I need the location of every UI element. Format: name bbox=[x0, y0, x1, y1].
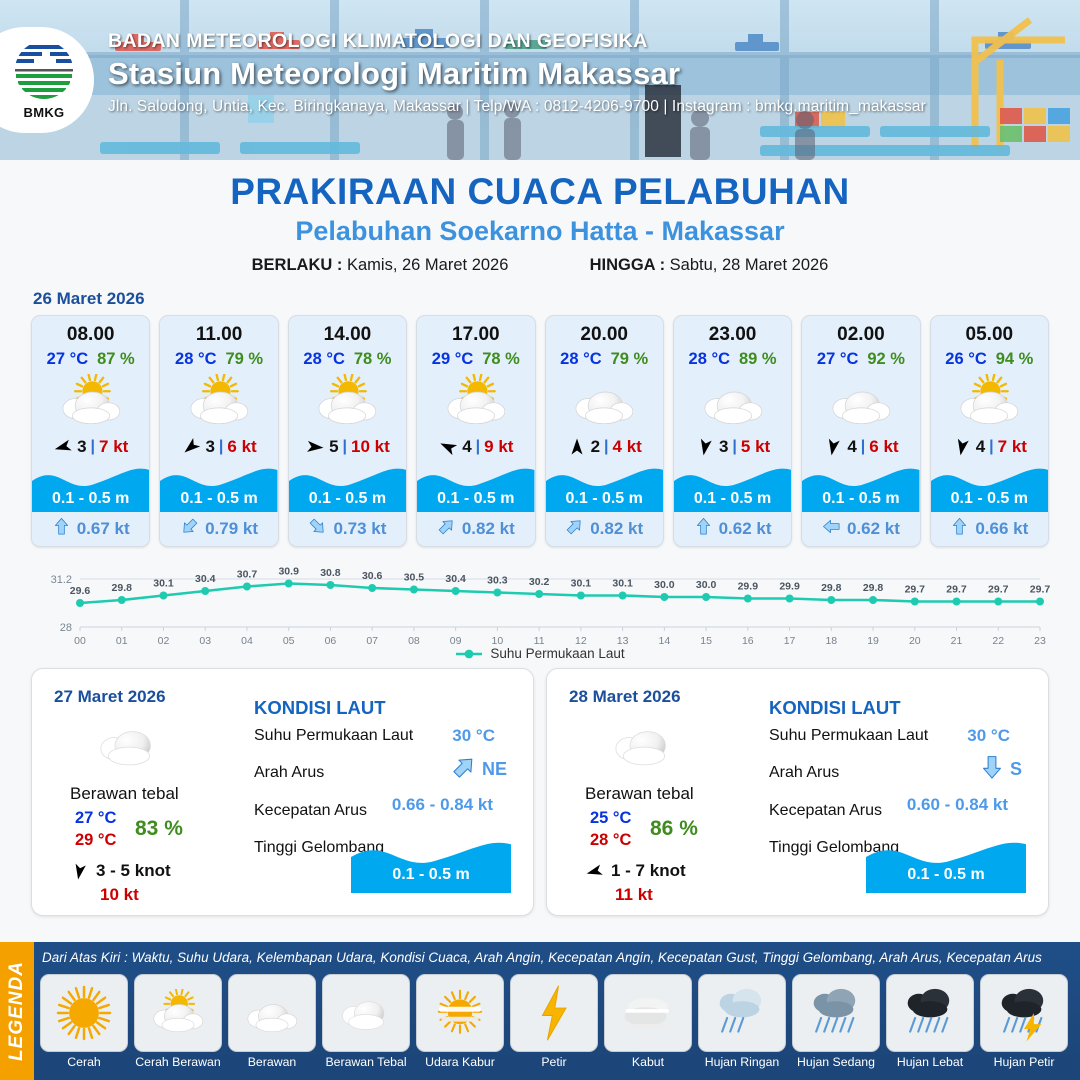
card-temperature: 28 °C bbox=[175, 350, 216, 369]
forecast-card: 02.00 27 °C 92 % 4 | 6 kt bbox=[801, 315, 920, 547]
udara-kabur-icon bbox=[416, 974, 504, 1052]
arrow-down-icon bbox=[979, 754, 1005, 785]
card-wind-separator: | bbox=[732, 438, 736, 456]
card-wave-height: 0.1 - 0.5 m bbox=[931, 490, 1048, 508]
card-wind-separator: | bbox=[604, 438, 608, 456]
arrow-west-icon bbox=[822, 517, 841, 541]
card-wave-block: 0.1 - 0.5 m bbox=[32, 462, 149, 512]
panel-current-dir-value: NE bbox=[482, 759, 507, 780]
card-wave-height: 0.1 - 0.5 m bbox=[289, 490, 406, 508]
svg-text:30.1: 30.1 bbox=[571, 578, 592, 590]
card-temperature: 28 °C bbox=[560, 350, 601, 369]
bmkg-logo-text: BMKG bbox=[11, 105, 77, 120]
svg-text:29.9: 29.9 bbox=[738, 581, 759, 593]
arrow-southwest-icon bbox=[180, 517, 199, 541]
svg-text:18: 18 bbox=[825, 635, 837, 647]
current-direction-icon bbox=[180, 517, 199, 536]
legend-item-label: Kabut bbox=[604, 1055, 692, 1069]
legend-item-label: Hujan Ringan bbox=[698, 1055, 786, 1069]
legend-item-label: Hujan Petir bbox=[980, 1055, 1068, 1069]
svg-text:20: 20 bbox=[909, 635, 921, 647]
weather-glyph bbox=[335, 991, 397, 1034]
card-current-row: 0.62 kt bbox=[802, 512, 919, 546]
card-wind-separator: | bbox=[476, 438, 480, 456]
svg-text:00: 00 bbox=[74, 635, 86, 647]
svg-text:30.1: 30.1 bbox=[153, 578, 174, 590]
card-humidity: 89 % bbox=[739, 350, 777, 369]
card-wind-scale: 4 bbox=[976, 437, 985, 457]
wind-direction-icon bbox=[181, 437, 201, 457]
arrow-northwest-icon bbox=[438, 437, 458, 457]
card-wind-row: 4 | 9 kt bbox=[417, 432, 534, 462]
svg-text:05: 05 bbox=[283, 635, 295, 647]
arrow-northeast-icon bbox=[437, 517, 456, 541]
panel-current-spd-label: Kecepatan Arus bbox=[769, 802, 882, 820]
fog-icon bbox=[617, 988, 679, 1038]
svg-text:28: 28 bbox=[60, 622, 72, 634]
panel-current-dir-label: Arah Arus bbox=[769, 764, 839, 782]
card-wind-row: 2 | 4 kt bbox=[546, 432, 663, 462]
berawan-icon bbox=[228, 974, 316, 1052]
card-weather-icon bbox=[546, 371, 663, 431]
svg-text:29.6: 29.6 bbox=[70, 585, 91, 597]
card-wind-scale: 4 bbox=[847, 437, 856, 457]
card-wind-speed: 5 kt bbox=[741, 437, 770, 457]
svg-text:21: 21 bbox=[951, 635, 963, 647]
header-org-line: BADAN METEOROLOGI KLIMATOLOGI DAN GEOFIS… bbox=[108, 30, 926, 53]
header-address-line: Jln. Salodong, Untia, Kec. Biringkanaya,… bbox=[108, 98, 926, 116]
panel-sst-label: Suhu Permukaan Laut bbox=[769, 727, 928, 745]
panel-weather-icon bbox=[607, 719, 681, 776]
legend-side-label: LEGENDA bbox=[6, 961, 28, 1061]
forecast-card: 20.00 28 °C 79 % 2 | 4 kt bbox=[545, 315, 664, 547]
panel-wave-value: 0.1 - 0.5 m bbox=[866, 866, 1026, 884]
legend-marker-icon bbox=[455, 648, 483, 660]
svg-text:30.6: 30.6 bbox=[362, 570, 383, 582]
svg-text:23: 23 bbox=[1034, 635, 1046, 647]
page-title: PRAKIRAAN CUACA PELABUHAN bbox=[0, 171, 1080, 213]
legend-item: Hujan Ringan bbox=[698, 974, 786, 1069]
card-time: 17.00 bbox=[417, 316, 534, 346]
svg-text:04: 04 bbox=[241, 635, 253, 647]
petir-icon bbox=[510, 974, 598, 1052]
berawan-tebal-icon bbox=[322, 974, 410, 1052]
header-text-block: BADAN METEOROLOGI KLIMATOLOGI DAN GEOFIS… bbox=[108, 30, 926, 116]
wave-height-graphic bbox=[866, 835, 1026, 893]
panel-current-speed-value: 0.60 - 0.84 kt bbox=[907, 795, 1008, 815]
card-wind-scale: 2 bbox=[591, 437, 600, 457]
valid-from-label: BERLAKU : bbox=[252, 256, 343, 274]
svg-text:30.0: 30.0 bbox=[654, 579, 675, 591]
card-weather-icon bbox=[674, 371, 791, 431]
card-time: 05.00 bbox=[931, 316, 1048, 346]
svg-text:29.7: 29.7 bbox=[1030, 584, 1051, 596]
svg-text:30.8: 30.8 bbox=[320, 567, 341, 579]
card-current-row: 0.67 kt bbox=[32, 512, 149, 546]
svg-text:30.0: 30.0 bbox=[696, 579, 717, 591]
card-temperature: 28 °C bbox=[689, 350, 730, 369]
svg-text:30.2: 30.2 bbox=[529, 576, 550, 588]
svg-text:03: 03 bbox=[199, 635, 211, 647]
legend-item: Hujan Sedang bbox=[792, 974, 880, 1069]
forecast-card: 08.00 27 °C 87 % 3 | 7 bbox=[31, 315, 150, 547]
arrow-up-icon bbox=[950, 517, 969, 541]
current-direction-icon bbox=[308, 517, 327, 536]
panel-humidity: 83 % bbox=[135, 817, 183, 841]
legend-item: Berawan Tebal bbox=[322, 974, 410, 1069]
card-wind-speed: 6 kt bbox=[227, 437, 256, 457]
wind-direction-icon bbox=[695, 437, 715, 457]
wind-direction-icon bbox=[567, 437, 587, 457]
panel-gust-speed: 11 kt bbox=[615, 885, 653, 905]
card-time: 08.00 bbox=[32, 316, 149, 346]
arrow-south-icon bbox=[823, 437, 843, 457]
card-weather-icon bbox=[802, 371, 919, 431]
hujan-ringan-icon bbox=[698, 974, 786, 1052]
card-humidity: 79 % bbox=[611, 350, 649, 369]
weather-glyph bbox=[241, 989, 303, 1036]
valid-until-label: HINGGA : bbox=[590, 256, 665, 274]
card-temperature: 29 °C bbox=[432, 350, 473, 369]
card-wind-scale: 5 bbox=[329, 437, 338, 457]
page-header: BMKG BADAN METEOROLOGI KLIMATOLOGI DAN G… bbox=[0, 0, 1080, 160]
svg-text:19: 19 bbox=[867, 635, 879, 647]
legend-item: Kabut bbox=[604, 974, 692, 1069]
card-wave-height: 0.1 - 0.5 m bbox=[160, 490, 277, 508]
weather-glyph bbox=[568, 374, 640, 429]
svg-text:30.9: 30.9 bbox=[278, 566, 299, 578]
arrow-west-icon bbox=[585, 862, 604, 881]
arrow-west-icon bbox=[53, 437, 73, 457]
valid-until-value: Sabtu, 28 Maret 2026 bbox=[670, 256, 829, 274]
current-direction-icon bbox=[950, 517, 969, 536]
card-weather-icon bbox=[417, 371, 534, 431]
card-wind-row: 3 | 6 kt bbox=[160, 432, 277, 462]
svg-text:29.7: 29.7 bbox=[988, 584, 1009, 596]
svg-text:08: 08 bbox=[408, 635, 420, 647]
forecast-card: 17.00 29 °C 78 % 4 | 9 bbox=[416, 315, 535, 547]
panel-wave-graphic: 0.1 - 0.5 m bbox=[351, 835, 511, 893]
wind-direction-icon bbox=[438, 437, 458, 457]
arrow-south-icon bbox=[70, 862, 89, 881]
sun-icon bbox=[53, 982, 115, 1044]
cerah-berawan-icon bbox=[134, 974, 222, 1052]
kabut-icon bbox=[604, 974, 692, 1052]
weather-glyph bbox=[92, 719, 166, 771]
card-wind-separator: | bbox=[989, 438, 993, 456]
card-wind-separator: | bbox=[343, 438, 347, 456]
panel-date: 28 Maret 2026 bbox=[569, 687, 681, 707]
legend-side-tab: LEGENDA bbox=[0, 942, 34, 1080]
legend-item: Cerah Berawan bbox=[134, 974, 222, 1069]
panel-wind-range: 3 - 5 knot bbox=[96, 861, 171, 881]
hujan-petir-icon bbox=[993, 982, 1055, 1044]
card-humidity: 94 % bbox=[996, 350, 1034, 369]
panel-temp-max: 29 °C bbox=[75, 831, 116, 850]
card-current-row: 0.82 kt bbox=[417, 512, 534, 546]
card-weather-icon bbox=[931, 371, 1048, 431]
card-wave-height: 0.1 - 0.5 m bbox=[802, 490, 919, 508]
svg-text:30.7: 30.7 bbox=[237, 569, 258, 581]
svg-text:01: 01 bbox=[116, 635, 128, 647]
wind-direction-icon bbox=[70, 862, 89, 881]
svg-text:10: 10 bbox=[492, 635, 504, 647]
card-current-row: 0.79 kt bbox=[160, 512, 277, 546]
svg-text:09: 09 bbox=[450, 635, 462, 647]
legend-item-label: Hujan Lebat bbox=[886, 1055, 974, 1069]
panel-gust-speed: 10 kt bbox=[100, 885, 139, 905]
card-current-speed: 0.82 kt bbox=[462, 519, 515, 539]
svg-text:29.9: 29.9 bbox=[779, 581, 800, 593]
hujan-petir-icon bbox=[980, 974, 1068, 1052]
panel-sea-title: KONDISI LAUT bbox=[769, 697, 901, 719]
card-wind-separator: | bbox=[219, 438, 223, 456]
card-humidity: 79 % bbox=[225, 350, 263, 369]
card-wind-row: 3 | 7 kt bbox=[32, 432, 149, 462]
card-wind-speed: 6 kt bbox=[869, 437, 898, 457]
wind-direction-icon bbox=[53, 437, 73, 457]
card-current-speed: 0.66 kt bbox=[975, 519, 1028, 539]
card-wave-block: 0.1 - 0.5 m bbox=[931, 462, 1048, 512]
card-time: 02.00 bbox=[802, 316, 919, 346]
legend-section: LEGENDA Dari Atas Kiri : Waktu, Suhu Uda… bbox=[0, 942, 1080, 1080]
panel-sea-title: KONDISI LAUT bbox=[254, 697, 386, 719]
panel-current-dir-value: S bbox=[1010, 759, 1022, 780]
panel-sst-label: Suhu Permukaan Laut bbox=[254, 727, 413, 745]
header-station-name: Stasiun Meteorologi Maritim Makassar bbox=[108, 56, 926, 92]
svg-text:30.1: 30.1 bbox=[612, 578, 633, 590]
card-humidity: 78 % bbox=[482, 350, 520, 369]
card-wind-speed: 7 kt bbox=[998, 437, 1027, 457]
arrow-southwest-icon bbox=[181, 437, 201, 457]
svg-text:31.2: 31.2 bbox=[51, 574, 72, 586]
svg-text:07: 07 bbox=[366, 635, 378, 647]
panel-condition: Berawan tebal bbox=[70, 784, 179, 804]
wind-direction-icon bbox=[305, 437, 325, 457]
current-direction-icon bbox=[451, 754, 477, 780]
card-wave-block: 0.1 - 0.5 m bbox=[289, 462, 406, 512]
card-temperature: 28 °C bbox=[303, 350, 344, 369]
card-current-row: 0.66 kt bbox=[931, 512, 1048, 546]
svg-text:30.3: 30.3 bbox=[487, 575, 508, 587]
hujan-ringan-icon bbox=[711, 982, 773, 1044]
card-weather-icon bbox=[32, 371, 149, 431]
card-wave-block: 0.1 - 0.5 m bbox=[160, 462, 277, 512]
card-humidity: 87 % bbox=[97, 350, 135, 369]
svg-text:16: 16 bbox=[742, 635, 754, 647]
validity-row: BERLAKU : Kamis, 26 Maret 2026 HINGGA : … bbox=[0, 256, 1080, 275]
wave-height-graphic bbox=[351, 835, 511, 893]
svg-text:06: 06 bbox=[325, 635, 337, 647]
hujan-lebat-icon bbox=[886, 974, 974, 1052]
panel-temp-max: 28 °C bbox=[590, 831, 631, 850]
title-section: PRAKIRAAN CUACA PELABUHAN Pelabuhan Soek… bbox=[0, 160, 1080, 275]
arrow-up-icon bbox=[52, 517, 71, 541]
svg-text:13: 13 bbox=[617, 635, 629, 647]
card-wind-row: 4 | 7 kt bbox=[931, 432, 1048, 462]
legend-item-label: Cerah bbox=[40, 1055, 128, 1069]
card-wind-row: 5 | 10 kt bbox=[289, 432, 406, 462]
current-direction-icon bbox=[52, 517, 71, 536]
panel-wind-row: 1 - 7 knot bbox=[585, 861, 686, 881]
card-wind-row: 4 | 6 kt bbox=[802, 432, 919, 462]
forecast-card: 05.00 26 °C 94 % 4 | 7 bbox=[930, 315, 1049, 547]
wind-direction-icon bbox=[585, 862, 604, 881]
card-wave-height: 0.1 - 0.5 m bbox=[546, 490, 663, 508]
sst-line-chart: 31.2280001020304050607080910111213141516… bbox=[22, 553, 1058, 649]
legend-item-label: Berawan bbox=[228, 1055, 316, 1069]
svg-text:29.7: 29.7 bbox=[946, 584, 967, 596]
haze-icon bbox=[429, 982, 491, 1044]
cerah-icon bbox=[40, 974, 128, 1052]
daily-forecast-panel: 27 Maret 2026 Berawan tebal 27 °C 29 °C … bbox=[31, 668, 534, 916]
card-current-row: 0.82 kt bbox=[546, 512, 663, 546]
legend-item: Cerah bbox=[40, 974, 128, 1069]
wind-direction-icon bbox=[952, 437, 972, 457]
panel-current-speed-value: 0.66 - 0.84 kt bbox=[392, 795, 493, 815]
card-wind-speed: 10 kt bbox=[351, 437, 390, 457]
card-weather-icon bbox=[289, 371, 406, 431]
card-wave-height: 0.1 - 0.5 m bbox=[32, 490, 149, 508]
card-wave-height: 0.1 - 0.5 m bbox=[674, 490, 791, 508]
arrow-northeast-icon bbox=[565, 517, 584, 541]
card-humidity: 78 % bbox=[354, 350, 392, 369]
svg-text:14: 14 bbox=[659, 635, 671, 647]
card-current-speed: 0.82 kt bbox=[590, 519, 643, 539]
page-subtitle: Pelabuhan Soekarno Hatta - Makassar bbox=[0, 216, 1080, 247]
card-time: 11.00 bbox=[160, 316, 277, 346]
daily-forecast-panels: 27 Maret 2026 Berawan tebal 27 °C 29 °C … bbox=[0, 661, 1080, 916]
card-wind-separator: | bbox=[91, 438, 95, 456]
forecast-date-label: 26 Maret 2026 bbox=[33, 289, 1080, 309]
forecast-card: 11.00 28 °C 79 % 3 | 6 bbox=[159, 315, 278, 547]
panel-temp-min: 27 °C bbox=[75, 809, 116, 828]
arrow-south-icon bbox=[695, 437, 715, 457]
panel-wind-row: 3 - 5 knot bbox=[70, 861, 171, 881]
panel-humidity: 86 % bbox=[650, 817, 698, 841]
weather-glyph bbox=[953, 374, 1025, 429]
current-direction-icon bbox=[437, 517, 456, 536]
sea-temperature-chart: 31.2280001020304050607080910111213141516… bbox=[0, 553, 1080, 649]
weather-glyph bbox=[147, 989, 209, 1036]
card-wind-scale: 3 bbox=[205, 437, 214, 457]
hujan-lebat-icon bbox=[899, 982, 961, 1044]
valid-from-value: Kamis, 26 Maret 2026 bbox=[347, 256, 508, 274]
svg-text:12: 12 bbox=[575, 635, 587, 647]
arrow-southeast-icon bbox=[308, 517, 327, 541]
weather-glyph bbox=[825, 374, 897, 429]
weather-glyph bbox=[183, 374, 255, 429]
svg-text:02: 02 bbox=[158, 635, 170, 647]
legend-items-row: Cerah Cerah Berawan bbox=[40, 974, 1076, 1069]
weather-glyph bbox=[311, 374, 383, 429]
svg-text:30.5: 30.5 bbox=[404, 572, 425, 584]
svg-text:15: 15 bbox=[700, 635, 712, 647]
card-wind-row: 3 | 5 kt bbox=[674, 432, 791, 462]
svg-text:29.8: 29.8 bbox=[112, 582, 133, 594]
card-temperature: 27 °C bbox=[47, 350, 88, 369]
current-direction-icon bbox=[694, 517, 713, 536]
svg-text:30.4: 30.4 bbox=[445, 573, 466, 585]
legend-item: Petir bbox=[510, 974, 598, 1069]
legend-item-label: Cerah Berawan bbox=[134, 1055, 222, 1069]
card-wind-speed: 4 kt bbox=[613, 437, 642, 457]
card-current-speed: 0.62 kt bbox=[719, 519, 772, 539]
legend-item: Udara Kabur bbox=[416, 974, 504, 1069]
legend-note: Dari Atas Kiri : Waktu, Suhu Udara, Kele… bbox=[42, 950, 1074, 965]
panel-sst-value: 30 °C bbox=[967, 726, 1010, 746]
card-current-speed: 0.62 kt bbox=[847, 519, 900, 539]
card-wave-block: 0.1 - 0.5 m bbox=[417, 462, 534, 512]
forecast-cards-row: 08.00 27 °C 87 % 3 | 7 bbox=[0, 315, 1080, 547]
panel-current-dir-value-wrap: S bbox=[979, 754, 1022, 785]
svg-text:29.7: 29.7 bbox=[905, 584, 926, 596]
bmkg-emblem-icon bbox=[14, 40, 74, 100]
card-time: 20.00 bbox=[546, 316, 663, 346]
weather-glyph bbox=[697, 374, 769, 429]
forecast-card: 23.00 28 °C 89 % 3 | 5 kt bbox=[673, 315, 792, 547]
weather-glyph bbox=[55, 374, 127, 429]
daily-forecast-panel: 28 Maret 2026 Berawan tebal 25 °C 28 °C … bbox=[546, 668, 1049, 916]
svg-text:29.8: 29.8 bbox=[863, 582, 884, 594]
card-time: 23.00 bbox=[674, 316, 791, 346]
card-current-speed: 0.67 kt bbox=[77, 519, 130, 539]
hujan-sedang-icon bbox=[805, 982, 867, 1044]
arrow-north-icon bbox=[567, 437, 587, 457]
card-wind-speed: 7 kt bbox=[99, 437, 128, 457]
arrow-east-icon bbox=[305, 437, 325, 457]
panel-date: 27 Maret 2026 bbox=[54, 687, 166, 707]
panel-wave-value: 0.1 - 0.5 m bbox=[351, 866, 511, 884]
panel-wind-range: 1 - 7 knot bbox=[611, 861, 686, 881]
arrow-northeast-icon bbox=[451, 754, 477, 785]
svg-text:17: 17 bbox=[784, 635, 796, 647]
card-wave-block: 0.1 - 0.5 m bbox=[802, 462, 919, 512]
lightning-icon bbox=[535, 982, 572, 1044]
panel-weather-icon bbox=[92, 719, 166, 776]
arrow-south-icon bbox=[952, 437, 972, 457]
panel-wave-graphic: 0.1 - 0.5 m bbox=[866, 835, 1026, 893]
card-current-row: 0.73 kt bbox=[289, 512, 406, 546]
svg-text:22: 22 bbox=[992, 635, 1004, 647]
card-current-row: 0.62 kt bbox=[674, 512, 791, 546]
panel-current-spd-label: Kecepatan Arus bbox=[254, 802, 367, 820]
card-wave-block: 0.1 - 0.5 m bbox=[674, 462, 791, 512]
card-wind-scale: 3 bbox=[719, 437, 728, 457]
card-current-speed: 0.73 kt bbox=[333, 519, 386, 539]
card-current-speed: 0.79 kt bbox=[205, 519, 258, 539]
weather-glyph bbox=[440, 374, 512, 429]
forecast-card: 14.00 28 °C 78 % 5 | 10 bbox=[288, 315, 407, 547]
weather-glyph bbox=[607, 719, 681, 771]
legend-item: Berawan bbox=[228, 974, 316, 1069]
panel-sst-value: 30 °C bbox=[452, 726, 495, 746]
card-weather-icon bbox=[160, 371, 277, 431]
legend-item-label: Petir bbox=[510, 1055, 598, 1069]
card-humidity: 92 % bbox=[867, 350, 905, 369]
current-direction-icon bbox=[565, 517, 584, 536]
wind-direction-icon bbox=[823, 437, 843, 457]
current-direction-icon bbox=[979, 754, 1005, 780]
panel-condition: Berawan tebal bbox=[585, 784, 694, 804]
card-temperature: 27 °C bbox=[817, 350, 858, 369]
panel-temp-min: 25 °C bbox=[590, 809, 631, 828]
legend-item: Hujan Petir bbox=[980, 974, 1068, 1069]
current-direction-icon bbox=[822, 517, 841, 536]
card-temperature: 26 °C bbox=[945, 350, 986, 369]
card-wave-height: 0.1 - 0.5 m bbox=[417, 490, 534, 508]
card-time: 14.00 bbox=[289, 316, 406, 346]
